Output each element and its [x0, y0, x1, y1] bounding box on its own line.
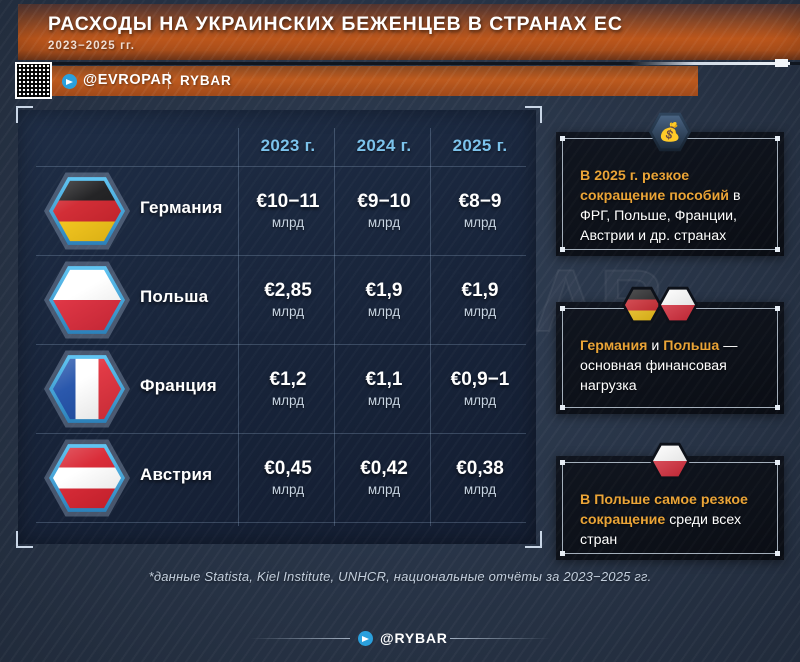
insight-card-2-country-1: Германия [580, 338, 647, 354]
footer-rule-left [250, 638, 350, 639]
insight-card-2-text: Германия и Польша — основная финансовая … [580, 336, 768, 396]
cell-austria-2025: €0,38 млрд [432, 459, 528, 497]
cell-france-2023: €1,2 млрд [240, 370, 336, 408]
insight-card-3-text: В Польше самое резкое сокращение среди в… [580, 490, 768, 550]
brand-handle[interactable]: @EVROPAR [83, 72, 173, 88]
insight-card-2-conjunction: и [647, 338, 663, 354]
flag-austria-icon [44, 437, 130, 519]
data-table: 2023 г. 2024 г. 2025 г. Германия €10−11 … [18, 110, 536, 544]
cell-france-2024: €1,1 млрд [336, 370, 432, 408]
cell-germany-2025: €8−9 млрд [432, 192, 528, 230]
insight-card-1-highlight: В 2025 г. резкое сокращение пособий [580, 168, 729, 204]
row-label-france: Франция [140, 376, 217, 396]
row-label-poland: Польша [140, 287, 208, 307]
insight-card-2-country-2: Польша [663, 338, 719, 354]
table-gridline-h4 [36, 522, 526, 523]
cell-germany-2023: €10−11 млрд [240, 192, 336, 230]
telegram-icon [358, 631, 373, 646]
column-header-2024: 2024 г. [336, 136, 432, 156]
header-divider-highlight [630, 62, 790, 65]
source-note: *данные Statista, Kiel Institute, UNHCR,… [0, 569, 800, 584]
insight-card-1-text: В 2025 г. резкое сокращение пособий в ФР… [580, 166, 768, 247]
row-label-austria: Австрия [140, 465, 212, 485]
cell-germany-2024: €9−10 млрд [336, 192, 432, 230]
flag-germany-icon [44, 170, 130, 252]
table-row: Австрия €0,45 млрд €0,42 млрд €0,38 млрд [18, 433, 536, 522]
telegram-icon [62, 74, 77, 89]
table-row: Польша €2,85 млрд €1,9 млрд €1,9 млрд [18, 255, 536, 344]
page-title: РАСХОДЫ НА УКРАИНСКИХ БЕЖЕНЦЕВ В СТРАНАХ… [48, 13, 623, 36]
row-label-germany: Германия [140, 198, 222, 218]
cell-austria-2024: €0,42 млрд [336, 459, 432, 497]
page-subtitle: 2023−2025 гг. [48, 40, 135, 52]
column-header-2023: 2023 г. [240, 136, 336, 156]
table-row: Германия €10−11 млрд €9−10 млрд €8−9 млр… [18, 166, 536, 255]
cell-france-2025: €0,9−1 млрд [432, 370, 528, 408]
table-row: Франция €1,2 млрд €1,1 млрд €0,9−1 млрд [18, 344, 536, 433]
header-banner: РАСХОДЫ НА УКРАИНСКИХ БЕЖЕНЦЕВ В СТРАНАХ… [0, 0, 800, 62]
footer-rule-right [450, 638, 550, 639]
footer-channel-name[interactable]: @RYBAR [380, 630, 448, 646]
brand-name[interactable]: RYBAR [180, 73, 232, 88]
header-slider-nub [775, 59, 788, 67]
cell-poland-2023: €2,85 млрд [240, 281, 336, 319]
cell-poland-2025: €1,9 млрд [432, 281, 528, 319]
footer-branding: @RYBAR [0, 627, 800, 649]
qr-code-icon [15, 62, 52, 99]
cell-poland-2024: €1,9 млрд [336, 281, 432, 319]
flag-france-icon [44, 348, 130, 430]
brand-separator [168, 72, 169, 89]
column-header-2025: 2025 г. [432, 136, 528, 156]
flag-poland-icon [44, 259, 130, 341]
cell-austria-2023: €0,45 млрд [240, 459, 336, 497]
